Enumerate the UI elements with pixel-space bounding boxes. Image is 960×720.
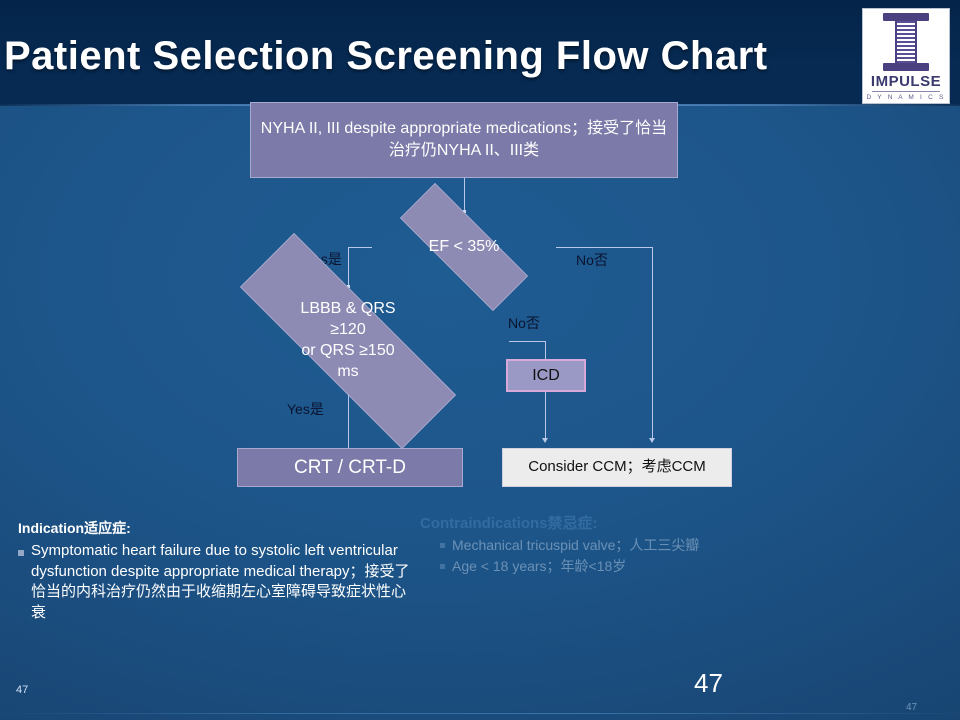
connector-ef-yes-h <box>348 247 372 248</box>
node-ccm: Consider CCM；考虑CCM <box>502 448 732 487</box>
node-lbbb-line1: LBBB & QRS <box>300 299 395 320</box>
connector-lbbb-no-v <box>545 341 546 359</box>
connector-icd-to-ccm <box>545 392 546 439</box>
connector-nyha-to-ef <box>464 178 465 212</box>
branch-label-lbbb-no: No否 <box>508 313 540 333</box>
contraindications-section: Contraindications禁忌症: Mechanical tricusp… <box>420 512 800 577</box>
contraindications-item-label: Age < 18 years；年龄<18岁 <box>452 556 626 577</box>
branch-label-ef-no: No否 <box>576 250 608 270</box>
page-number-right: 47 <box>906 702 917 713</box>
connector-lbbb-yes-v <box>348 395 349 448</box>
indication-bullet: Symptomatic heart failure due to systoli… <box>18 541 418 624</box>
footer-divider <box>0 713 960 714</box>
node-lbbb: LBBB & QRS ≥120 or QRS ≥150 ms <box>186 287 510 395</box>
logo-subtitle: D Y N A M I C S <box>867 94 946 101</box>
node-nyha: NYHA II, III despite appropriate medicat… <box>250 102 678 178</box>
slide-canvas: Patient Selection Screening Flow Chart I… <box>0 0 960 720</box>
contraindications-item: Mechanical tricuspid valve；人工三尖瓣 <box>440 535 800 556</box>
indication-section: Indication适应症: Symptomatic heart failure… <box>18 518 418 624</box>
node-ef-label: EF < 35% <box>429 237 500 258</box>
node-ccm-label: Consider CCM；考虑CCM <box>528 457 706 477</box>
contraindications-item-label: Mechanical tricuspid valve；人工三尖瓣 <box>452 535 699 556</box>
logo-wordmark: IMPULSE <box>871 74 941 89</box>
connector-ef-yes-v <box>348 247 349 287</box>
node-crt: CRT / CRT-D <box>237 448 463 487</box>
page-title: Patient Selection Screening Flow Chart <box>0 34 920 79</box>
contraindications-item: Age < 18 years；年龄<18岁 <box>440 556 800 577</box>
node-lbbb-line2: ≥120 <box>330 320 365 341</box>
contraindications-heading: Contraindications禁忌症: <box>420 512 800 533</box>
column-icon <box>883 13 929 71</box>
bullet-square-icon <box>440 543 445 548</box>
indication-body: Symptomatic heart failure due to systoli… <box>31 541 418 624</box>
branch-label-lbbb-yes: Yes是 <box>287 399 324 419</box>
page-number-left: 47 <box>16 684 28 696</box>
impulse-dynamics-logo: IMPULSE D Y N A M I C S <box>862 8 950 104</box>
connector-ef-no-v <box>652 247 653 439</box>
logo-divider <box>872 91 940 92</box>
arrowhead-icd-to-ccm <box>542 438 548 443</box>
node-nyha-label: NYHA II, III despite appropriate medicat… <box>259 118 669 161</box>
node-icd: ICD <box>506 359 586 392</box>
bullet-square-icon <box>440 564 445 569</box>
arrowhead-ef-no <box>649 438 655 443</box>
connector-ef-no-h <box>556 247 653 248</box>
node-ef: EF < 35% <box>371 212 557 282</box>
node-lbbb-line3: or QRS ≥150 <box>301 341 394 362</box>
bullet-square-icon <box>18 550 24 556</box>
page-number-center: 47 <box>694 668 723 699</box>
indication-heading: Indication适应症: <box>18 518 418 538</box>
node-crt-label: CRT / CRT-D <box>294 455 406 481</box>
node-icd-label: ICD <box>532 365 560 387</box>
node-lbbb-line4: ms <box>337 362 358 383</box>
connector-lbbb-no-h <box>509 341 546 342</box>
